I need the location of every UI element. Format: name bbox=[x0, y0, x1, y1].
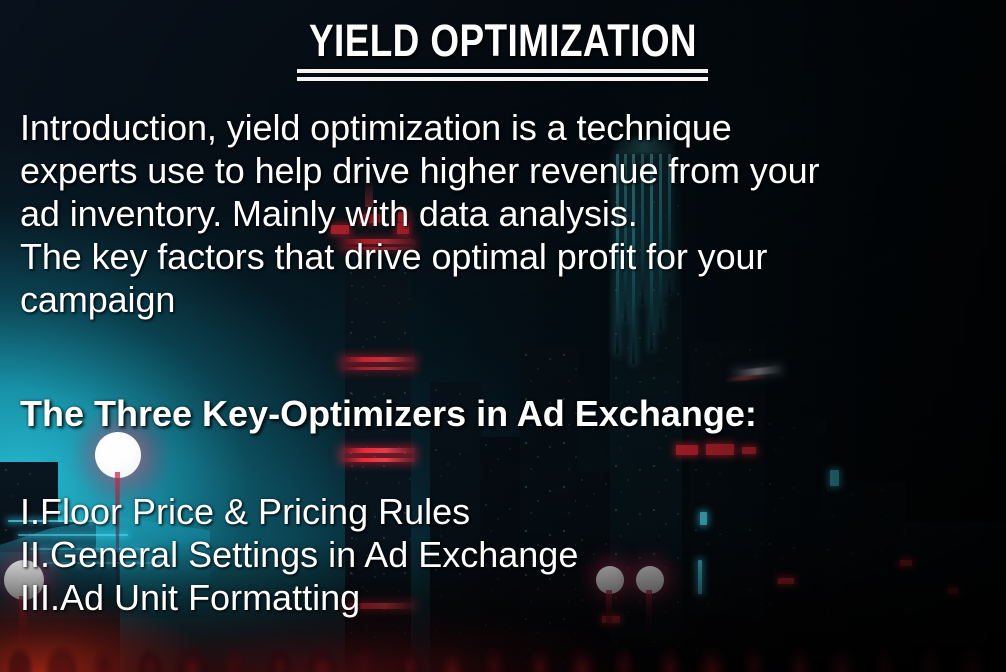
list-item: I.Floor Price & Pricing Rules bbox=[20, 490, 986, 533]
list-item: II.General Settings in Ad Exchange bbox=[20, 533, 986, 576]
title-underline-bottom bbox=[297, 77, 708, 81]
intro-line: Introduction, yield optimization is a te… bbox=[20, 106, 986, 149]
intro-line: experts use to help drive higher revenue… bbox=[20, 149, 986, 192]
intro-line: The key factors that drive optimal profi… bbox=[20, 235, 986, 278]
optimizers-list: I.Floor Price & Pricing Rules II.General… bbox=[20, 490, 986, 619]
list-item: III.Ad Unit Formatting bbox=[20, 576, 986, 619]
page-title: YIELD OPTIMIZATION bbox=[91, 18, 916, 63]
intro-paragraph: Introduction, yield optimization is a te… bbox=[20, 106, 986, 321]
slide-content: YIELD OPTIMIZATION Introduction, yield o… bbox=[0, 0, 1006, 672]
slide-canvas: YIELD OPTIMIZATION Introduction, yield o… bbox=[0, 0, 1006, 672]
title-underline-top bbox=[297, 69, 708, 73]
section-subheading: The Three Key-Optimizers in Ad Exchange: bbox=[20, 392, 757, 435]
intro-line: campaign bbox=[20, 278, 986, 321]
intro-line: ad inventory. Mainly with data analysis. bbox=[20, 192, 986, 235]
